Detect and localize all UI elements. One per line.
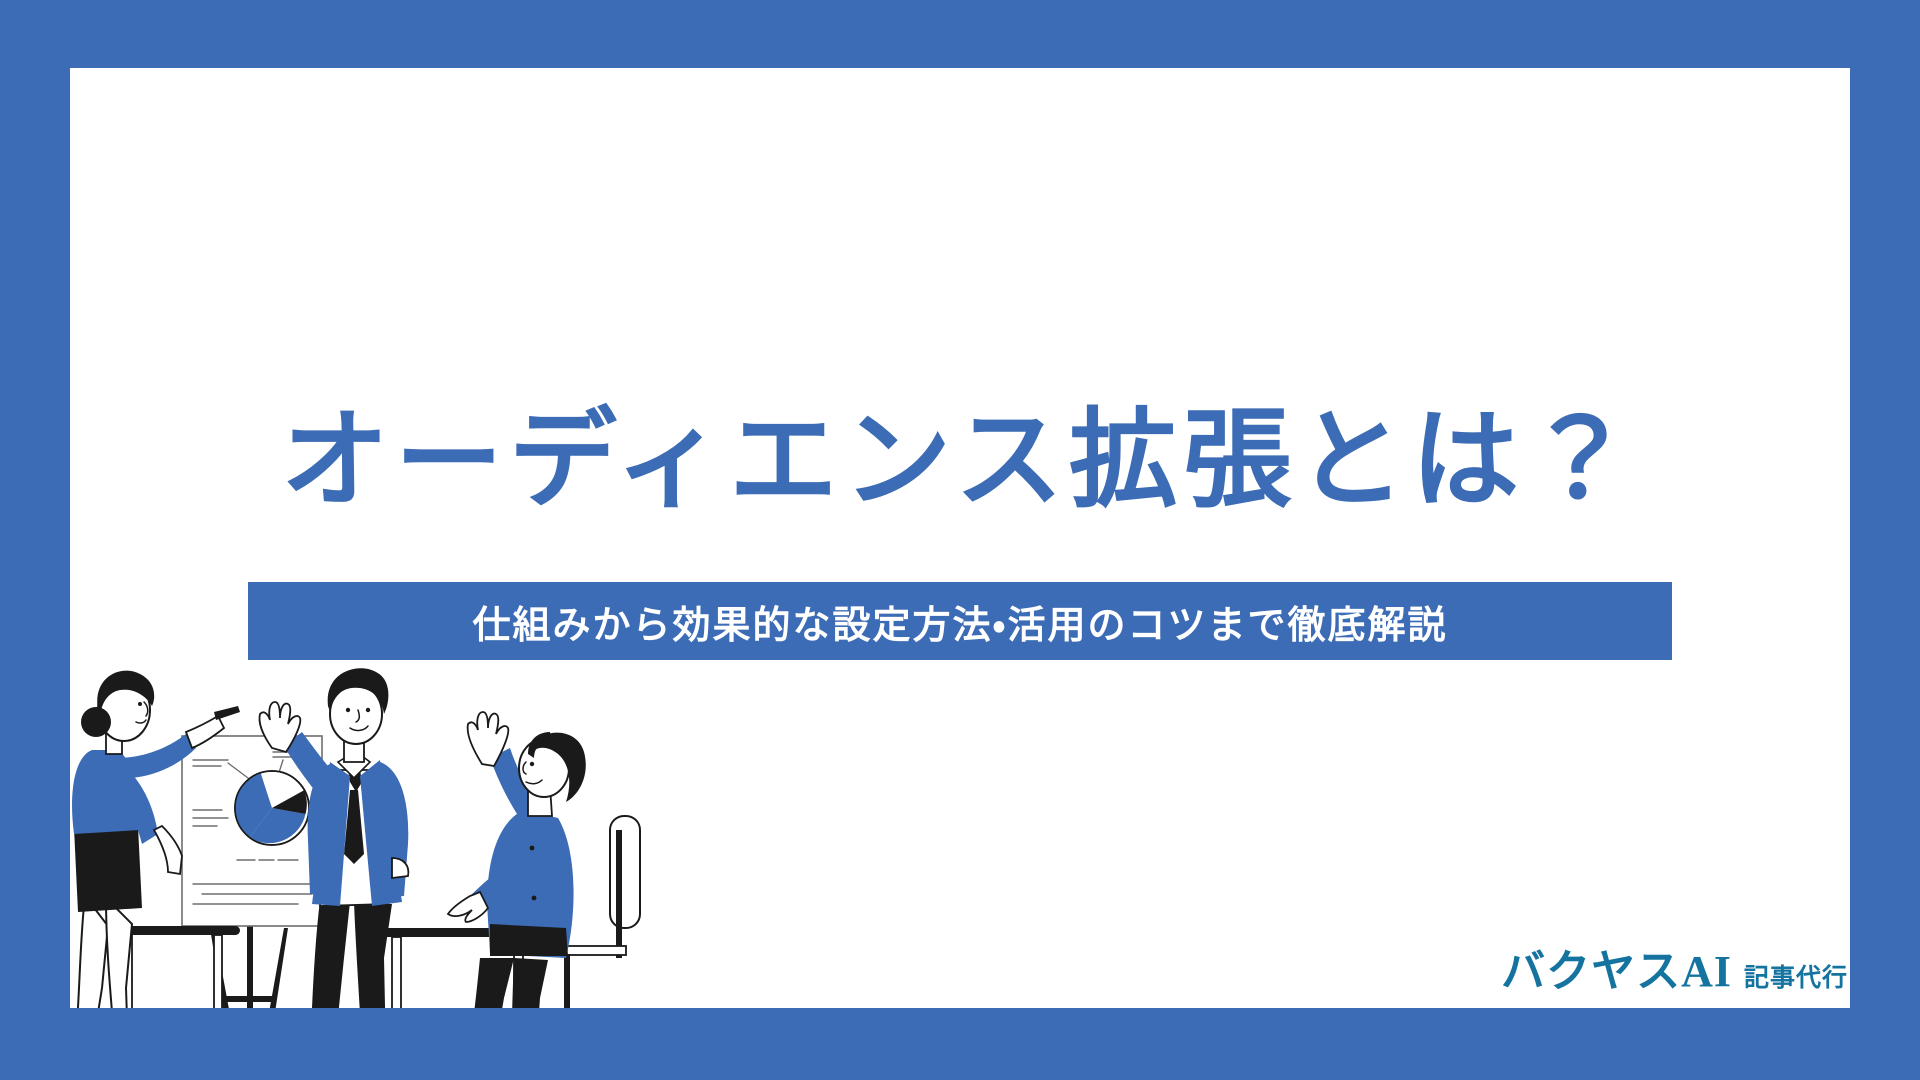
illustration-svg: .ink { fill:#1A1A1A; } .blue { fill:#3C6… [70,658,762,1008]
monitor [610,816,640,928]
slide-content-panel: オーディエンス拡張とは？ 仕組みから効果的な設定方法・活用のコツまで徹底解説 .… [70,68,1850,1008]
brand-logo-name: バクヤスAI [1501,950,1732,994]
person-seated-raising-hand [448,712,640,1008]
brand-logo: バクヤスAI 記事代行 [1501,950,1848,994]
subtitle-band: 仕組みから効果的な設定方法・活用のコツまで徹底解説 [248,582,1672,660]
slide-root: オーディエンス拡張とは？ 仕組みから効果的な設定方法・活用のコツまで徹底解説 .… [0,0,1920,1080]
subtitle-text: 仕組みから効果的な設定方法・活用のコツまで徹底解説 [473,594,1448,649]
page-title: オーディエンス拡張とは？ [70,398,1850,522]
flipchart-easel [182,736,322,1008]
business-team-illustration: .ink { fill:#1A1A1A; } .blue { fill:#3C6… [70,658,762,1008]
brand-logo-service: 記事代行 [1744,966,1848,991]
